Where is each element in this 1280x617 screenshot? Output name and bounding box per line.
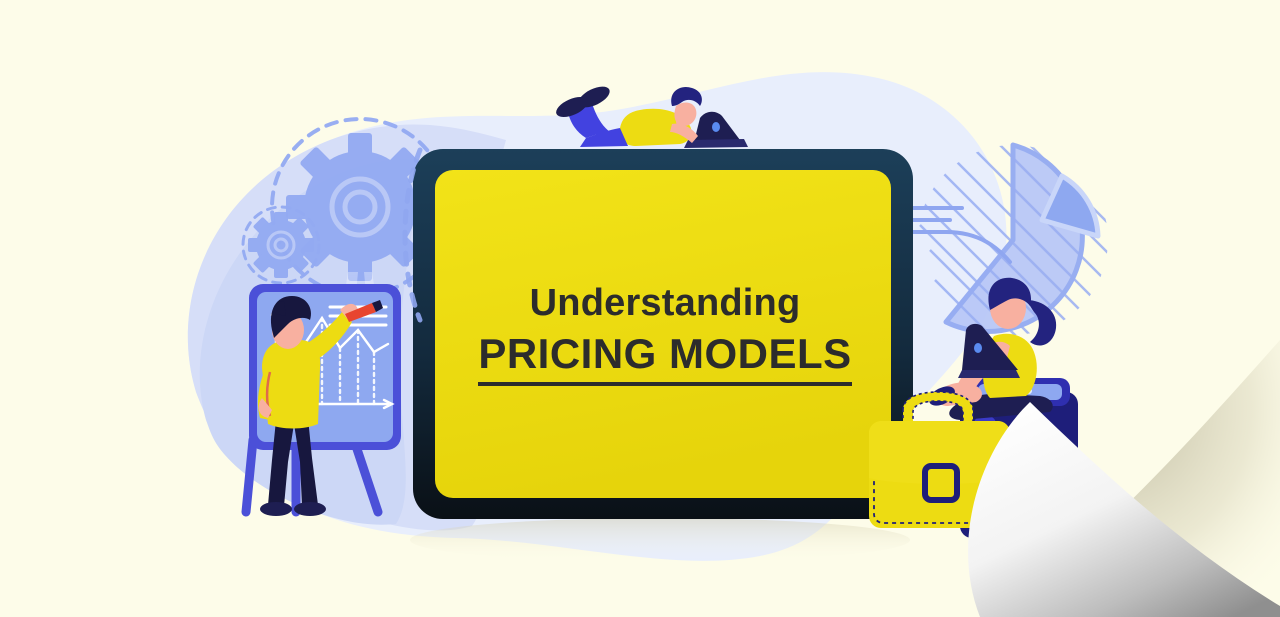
tablet-device — [413, 149, 913, 519]
scene-svg — [0, 0, 1280, 617]
briefcase-clasp — [925, 466, 957, 500]
tablet-screen — [435, 170, 891, 498]
laptop-base — [958, 370, 1020, 378]
tablet-shadow — [410, 518, 910, 562]
small-gear — [243, 207, 319, 283]
illustration-canvas: Understanding PRICING MODELS — [0, 0, 1280, 617]
